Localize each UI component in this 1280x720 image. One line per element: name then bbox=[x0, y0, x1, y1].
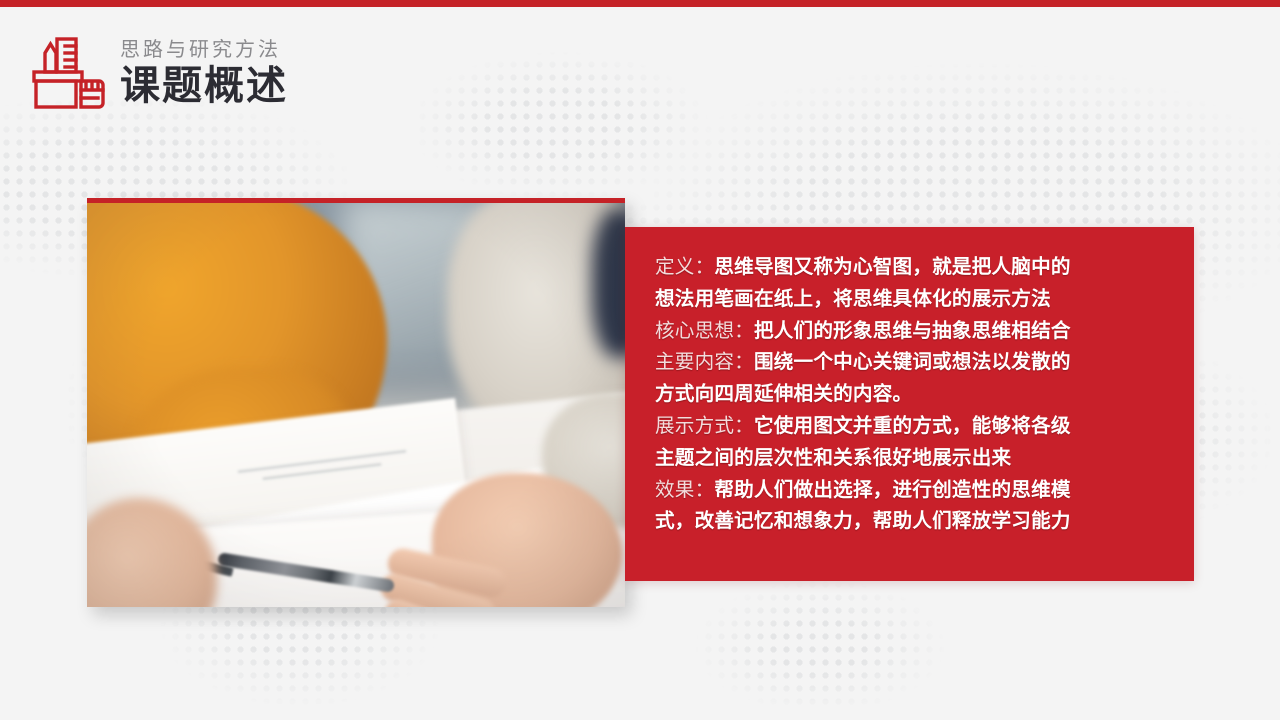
panel-line-label: 核心思想： bbox=[655, 320, 754, 342]
panel-line-text: 围绕一个中心关键词或想法以发散的 bbox=[754, 351, 1071, 373]
panel-line-label: 展示方式： bbox=[655, 415, 754, 437]
panel-line-text: 式，改善记忆和想象力，帮助人们释放学习能力 bbox=[655, 510, 1071, 532]
slide-header: 思路与研究方法 课题概述 bbox=[24, 32, 288, 114]
panel-line-text: 它使用图文并重的方式，能够将各级 bbox=[754, 415, 1071, 437]
panel-line-label: 定义： bbox=[655, 256, 714, 278]
photo-image bbox=[87, 198, 625, 607]
top-accent-bar bbox=[0, 0, 1280, 7]
panel-line-label: 效果： bbox=[655, 479, 714, 501]
book-stationery-icon bbox=[24, 32, 106, 114]
header-text-block: 思路与研究方法 课题概述 bbox=[120, 37, 288, 109]
panel-line: 方式向四周延伸相关的内容。 bbox=[655, 379, 1172, 411]
panel-line: 定义：思维导图又称为心智图，就是把人脑中的 bbox=[655, 252, 1172, 284]
panel-line-text: 想法用笔画在纸上，将思维具体化的展示方法 bbox=[655, 288, 1051, 310]
panel-line-text: 把人们的形象思维与抽象思维相结合 bbox=[754, 320, 1071, 342]
panel-line: 展示方式：它使用图文并重的方式，能够将各级 bbox=[655, 411, 1172, 443]
definition-panel: 定义：思维导图又称为心智图，就是把人脑中的 想法用笔画在纸上，将思维具体化的展示… bbox=[625, 227, 1194, 581]
panel-line-text: 思维导图又称为心智图，就是把人脑中的 bbox=[714, 256, 1070, 278]
panel-line: 主题之间的层次性和关系很好地展示出来 bbox=[655, 443, 1172, 475]
panel-line: 想法用笔画在纸上，将思维具体化的展示方法 bbox=[655, 284, 1172, 316]
photo-top-accent bbox=[87, 198, 625, 203]
panel-line-text: 方式向四周延伸相关的内容。 bbox=[655, 383, 912, 405]
panel-line-label: 主要内容： bbox=[655, 351, 754, 373]
panel-line: 核心思想：把人们的形象思维与抽象思维相结合 bbox=[655, 316, 1172, 348]
panel-line: 式，改善记忆和想象力，帮助人们释放学习能力 bbox=[655, 506, 1172, 538]
panel-line-text: 主题之间的层次性和关系很好地展示出来 bbox=[655, 447, 1011, 469]
page-title: 课题概述 bbox=[120, 64, 288, 109]
slide-subtitle: 思路与研究方法 bbox=[120, 39, 288, 62]
panel-line-text: 帮助人们做出选择，进行创造性的思维模 bbox=[714, 479, 1070, 501]
content-photo bbox=[87, 198, 625, 607]
panel-line: 主要内容：围绕一个中心关键词或想法以发散的 bbox=[655, 347, 1172, 379]
panel-line: 效果：帮助人们做出选择，进行创造性的思维模 bbox=[655, 475, 1172, 507]
slide-canvas: 思路与研究方法 课题概述 bbox=[0, 0, 1280, 720]
